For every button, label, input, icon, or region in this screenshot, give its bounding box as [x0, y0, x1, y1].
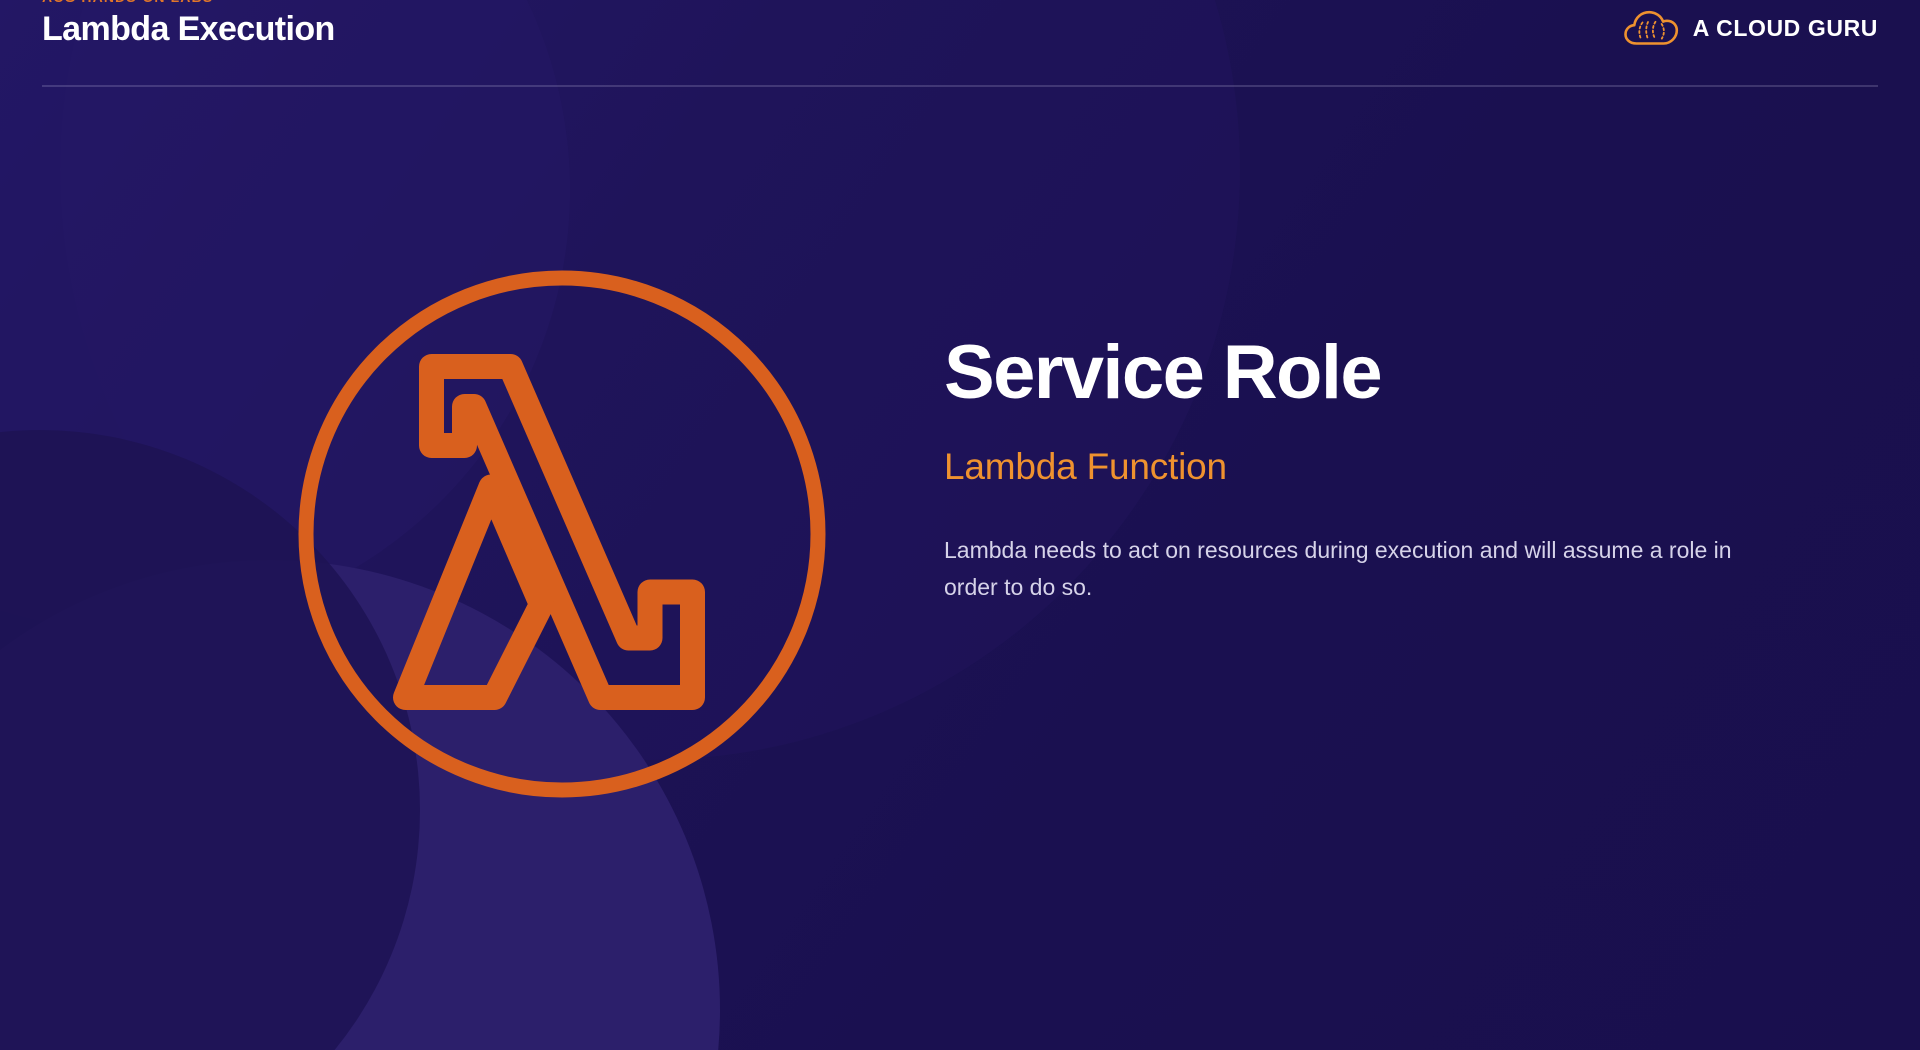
slide-stage: ACG HANDS-ON LABS Lambda Execution A CLO…: [0, 0, 1920, 1050]
header-eyebrow: ACG HANDS-ON LABS: [42, 0, 335, 4]
lab-title: Lambda Execution: [42, 8, 335, 50]
body-paragraph: Lambda needs to act on resources during …: [944, 532, 1734, 606]
headline: Service Role: [944, 330, 1764, 416]
brand-name: A CLOUD GURU: [1693, 15, 1878, 42]
slide-header: ACG HANDS-ON LABS Lambda Execution A CLO…: [0, 0, 1920, 88]
brand-lockup: A CLOUD GURU: [1623, 8, 1878, 48]
content-block: Service Role Lambda Function Lambda need…: [944, 330, 1764, 606]
cloud-logo-icon: [1623, 8, 1679, 48]
subheadline: Lambda Function: [944, 444, 1764, 490]
aws-lambda-icon: [288, 260, 836, 808]
header-divider: [42, 85, 1878, 87]
header-title-group: ACG HANDS-ON LABS Lambda Execution: [42, 0, 335, 50]
